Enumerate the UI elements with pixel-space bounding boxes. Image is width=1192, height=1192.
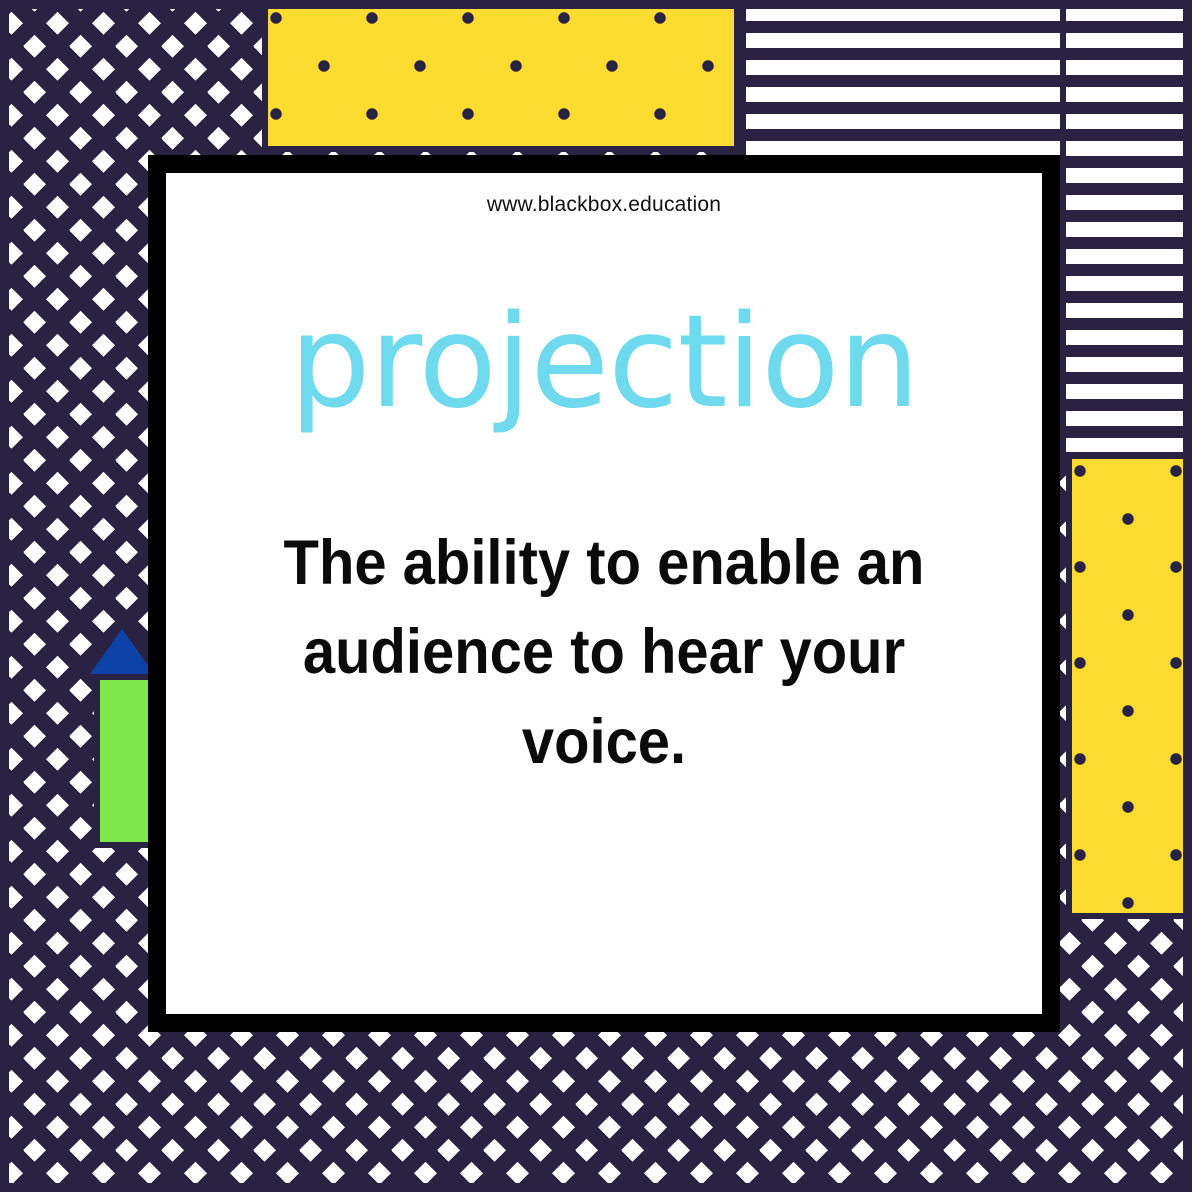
stripes-block-right	[1060, 0, 1192, 458]
website-url: www.blackbox.education	[487, 193, 721, 217]
house-roof-icon	[90, 629, 154, 674]
flashcard-canvas: www.blackbox.education projection The ab…	[0, 0, 1192, 1192]
yellow-dots-block-right	[1066, 453, 1192, 919]
term-definition: The ability to enable an audience to hea…	[241, 519, 968, 787]
term-title: projection	[289, 299, 918, 427]
flashcard: www.blackbox.education projection The ab…	[148, 155, 1060, 1032]
house-body-shape	[94, 674, 156, 848]
yellow-dots-block-top	[262, 0, 740, 152]
